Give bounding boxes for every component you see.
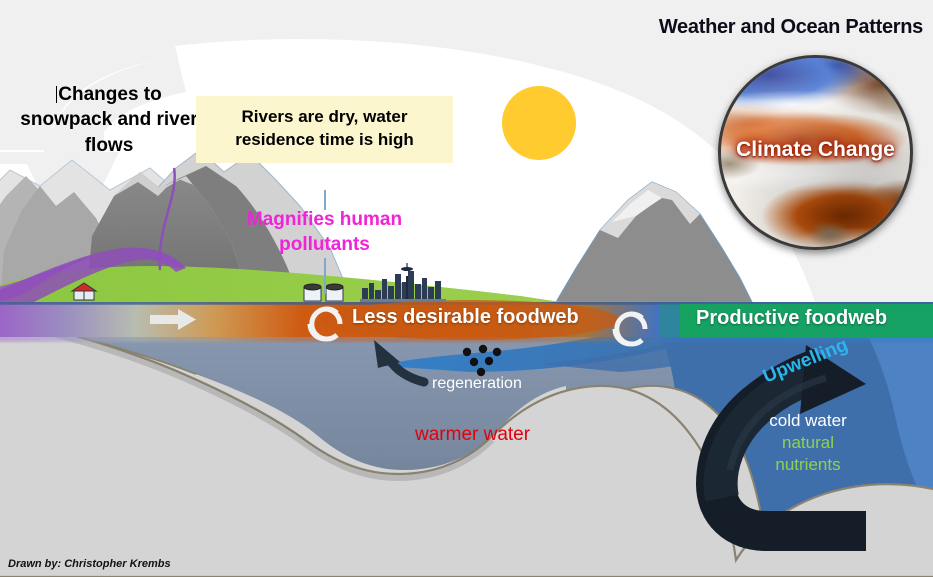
attribution-credit: Drawn by: Christopher Krembs — [8, 558, 171, 570]
less-desirable-foodweb-label: Less desirable foodweb — [352, 306, 579, 329]
warmer-water-label: warmer water — [415, 424, 530, 446]
callout-stem-lower — [324, 258, 326, 294]
magnifies-pollutants-label: Magnifies human pollutants — [212, 208, 437, 257]
regeneration-label: regeneration — [432, 375, 522, 393]
natural-label: natural — [718, 433, 898, 453]
city-skyline-icon — [360, 262, 446, 302]
rivers-callout: Rivers are dry, water residence time is … — [196, 96, 453, 163]
nutrients-label: nutrients — [718, 455, 898, 475]
globe-label: Climate Change — [718, 138, 913, 162]
house-icon — [70, 281, 98, 301]
callout-stem-upper — [324, 190, 326, 210]
cold-water-label: cold water — [718, 411, 898, 431]
productive-foodweb-label: Productive foodweb — [696, 307, 887, 330]
diagram-canvas: Weather and Ocean Patterns Climate Chang… — [0, 0, 933, 577]
cycle-arrows-icon — [303, 302, 347, 346]
changes-label: Changes to snowpack and river flows — [14, 82, 204, 158]
cycle-arrows-icon — [608, 307, 652, 351]
changes-label-text: Changes to snowpack and river flows — [20, 84, 197, 156]
